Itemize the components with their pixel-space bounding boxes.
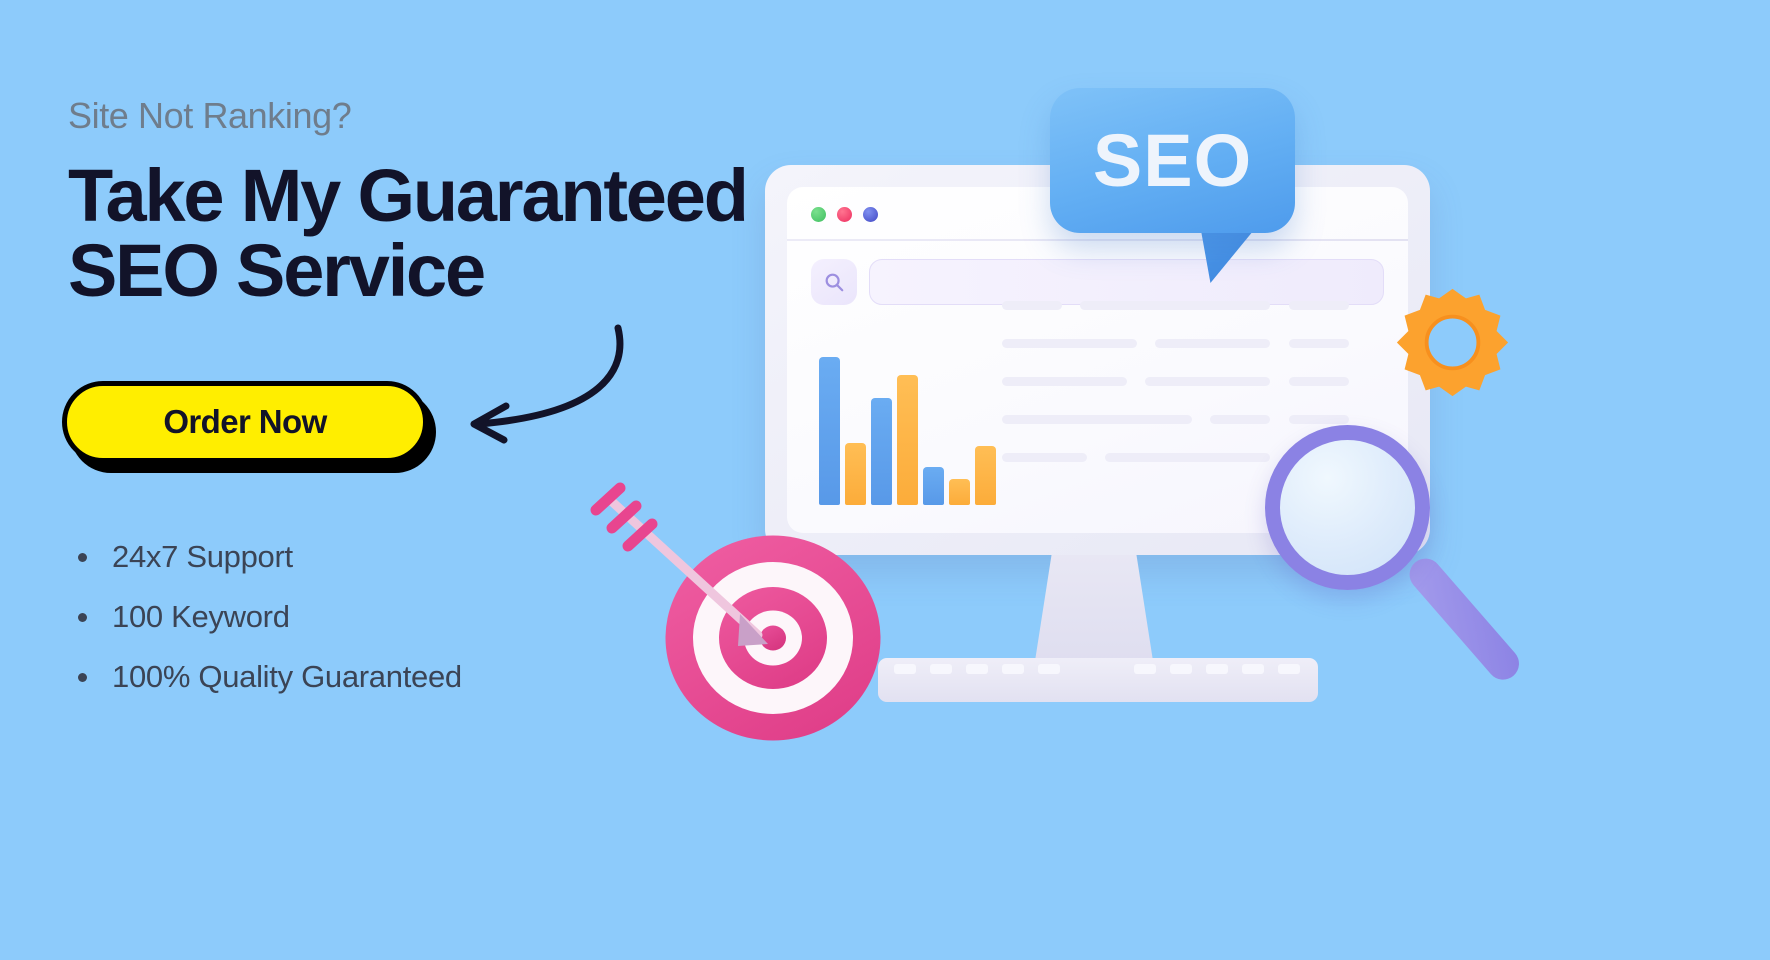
skeleton-line xyxy=(1155,339,1270,348)
chrome-divider xyxy=(787,239,1408,241)
key-icon xyxy=(1242,664,1264,674)
magnifier-illustration xyxy=(1265,425,1535,725)
key-icon xyxy=(930,664,952,674)
seo-bubble-label: SEO xyxy=(1093,118,1252,203)
cta-button-wrapper: Order Now xyxy=(62,381,442,473)
key-icon xyxy=(966,664,988,674)
traffic-light-blue-icon xyxy=(863,207,878,222)
seo-speech-bubble: SEO xyxy=(1050,88,1295,233)
feature-label: 100 Keyword xyxy=(112,599,290,635)
bar-5 xyxy=(923,467,944,505)
bar-7 xyxy=(975,446,996,505)
traffic-light-red-icon xyxy=(837,207,852,222)
magnifier-handle xyxy=(1403,552,1526,686)
order-now-button-label: Order Now xyxy=(163,403,326,441)
key-icon xyxy=(1170,664,1192,674)
skeleton-row xyxy=(1002,373,1382,391)
skeleton-row xyxy=(1002,335,1382,353)
list-item: 24x7 Support xyxy=(78,527,462,587)
bar-4 xyxy=(897,375,918,505)
bullet-dot-icon xyxy=(78,613,87,622)
bar-2 xyxy=(845,443,866,505)
bar-6 xyxy=(949,479,970,505)
key-icon xyxy=(894,664,916,674)
skeleton-line xyxy=(1289,377,1349,386)
hero-illustration: SEO xyxy=(640,40,1770,940)
skeleton-line xyxy=(1289,415,1349,424)
skeleton-line xyxy=(1002,415,1192,424)
list-item: 100% Quality Guaranteed xyxy=(78,647,462,707)
skeleton-line xyxy=(1145,377,1270,386)
bar-chart xyxy=(819,343,979,505)
skeleton-row xyxy=(1002,297,1382,315)
key-icon xyxy=(1038,664,1060,674)
key-icon xyxy=(1134,664,1156,674)
bar-1 xyxy=(819,357,840,505)
feature-label: 100% Quality Guaranteed xyxy=(112,659,462,695)
feature-list: 24x7 Support 100 Keyword 100% Quality Gu… xyxy=(78,527,462,707)
bullet-dot-icon xyxy=(78,673,87,682)
feature-label: 24x7 Support xyxy=(112,539,293,575)
traffic-light-green-icon xyxy=(811,207,826,222)
monitor-stand xyxy=(1035,555,1153,661)
gear-icon xyxy=(1395,285,1510,400)
order-now-button[interactable]: Order Now xyxy=(62,381,428,463)
magnifier-lens xyxy=(1265,425,1430,590)
monitor-base xyxy=(878,658,1318,702)
list-item: 100 Keyword xyxy=(78,587,462,647)
promo-banner: Site Not Ranking? Take My Guaranteed SEO… xyxy=(0,0,1770,960)
skeleton-line xyxy=(1105,453,1270,462)
bar-3 xyxy=(871,398,892,505)
key-icon xyxy=(1002,664,1024,674)
skeleton-line xyxy=(1002,339,1137,348)
arrow-dart-icon xyxy=(590,480,820,670)
curved-arrow-icon xyxy=(452,322,632,452)
skeleton-line xyxy=(1289,301,1349,310)
skeleton-line xyxy=(1002,301,1062,310)
skeleton-line xyxy=(1210,415,1270,424)
skeleton-line xyxy=(1002,453,1087,462)
target-illustration xyxy=(660,530,885,745)
search-icon xyxy=(811,259,857,305)
skeleton-line xyxy=(1080,301,1270,310)
key-icon xyxy=(1206,664,1228,674)
skeleton-line xyxy=(1002,377,1127,386)
bullet-dot-icon xyxy=(78,553,87,562)
skeleton-line xyxy=(1289,339,1349,348)
